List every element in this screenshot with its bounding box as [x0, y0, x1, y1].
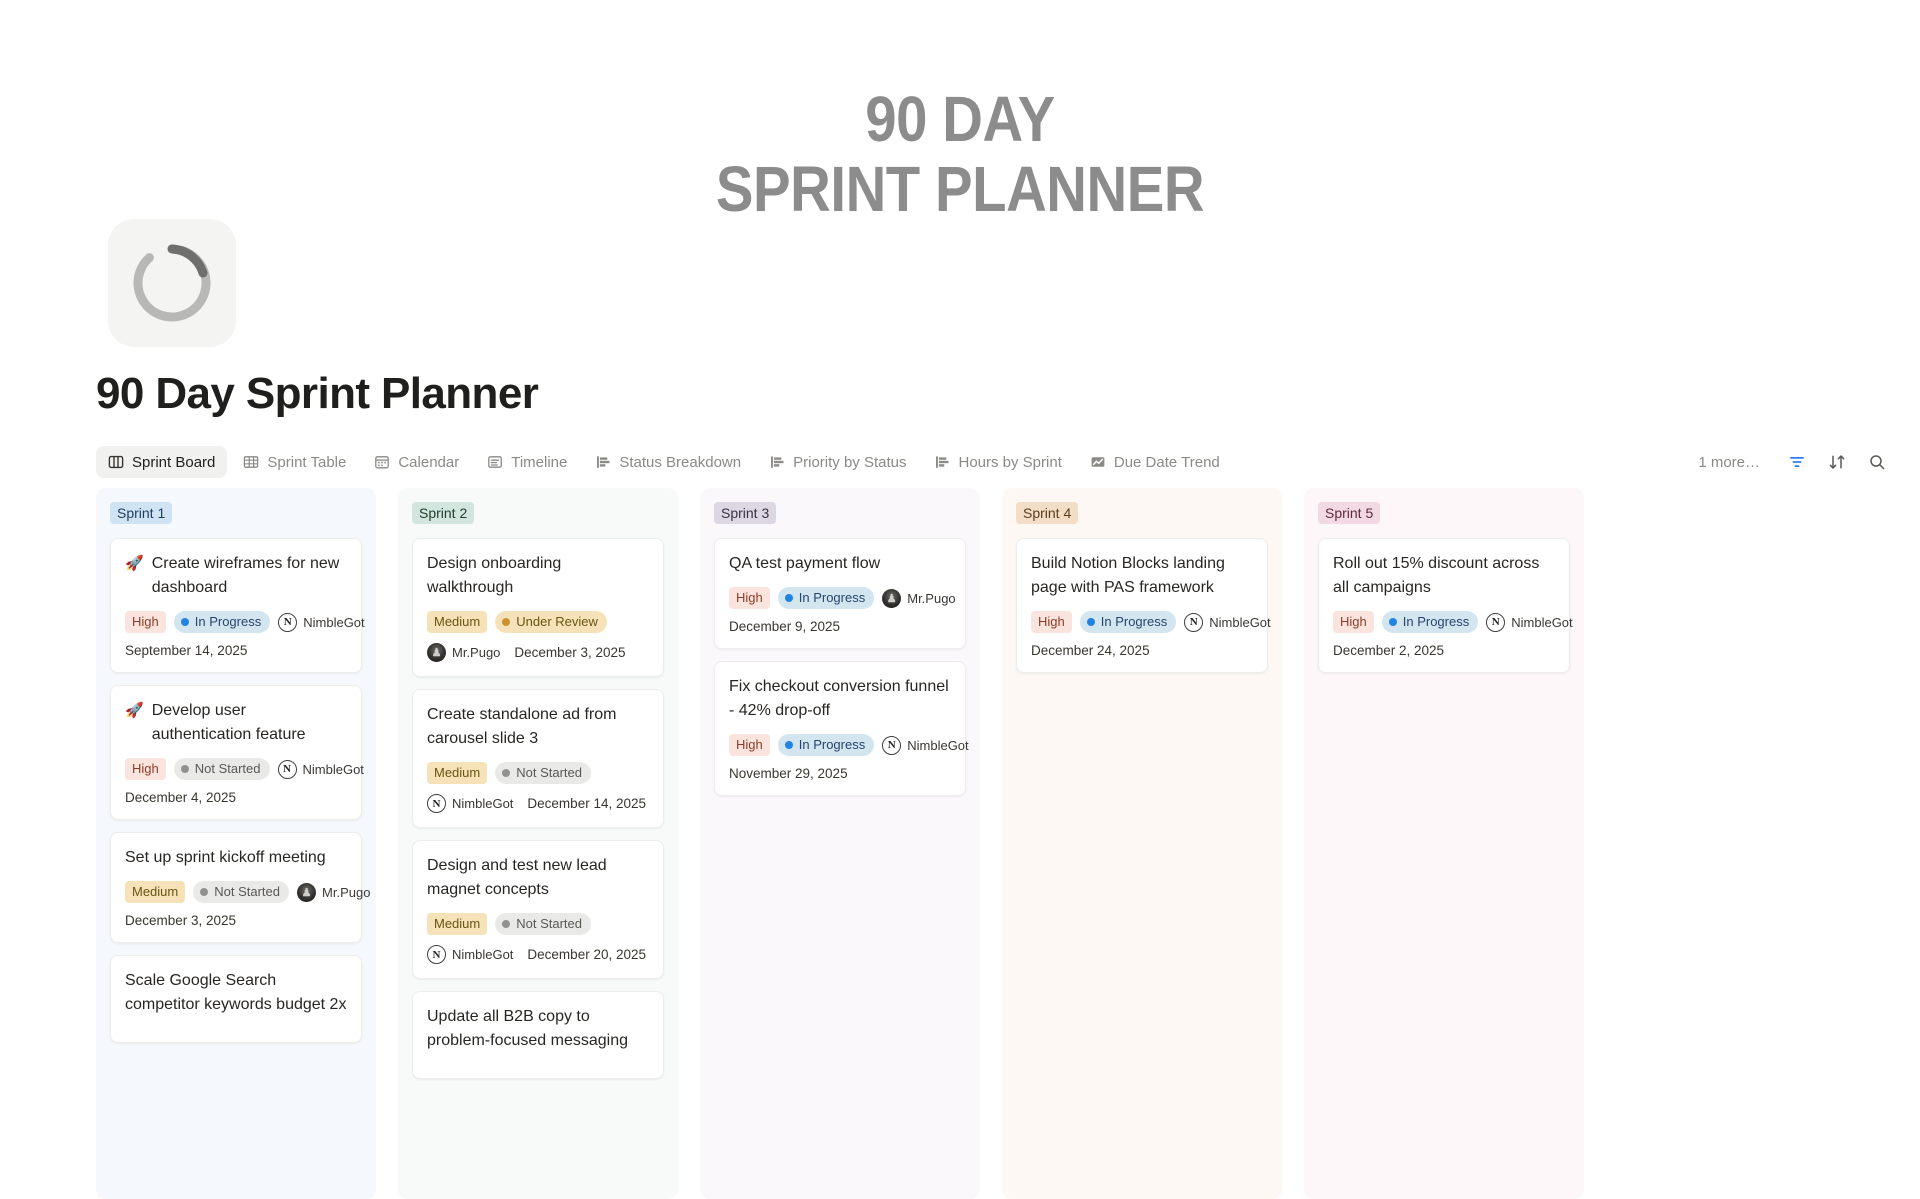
sprint-board: Sprint 1🚀Create wireframes for new dashb… [96, 488, 1920, 1199]
board-toolbar [1772, 453, 1886, 471]
task-card[interactable]: Update all B2B copy to problem-focused m… [412, 991, 664, 1079]
search-icon[interactable] [1868, 453, 1886, 471]
board-column-sprint-3: Sprint 3QA test payment flowHighIn Progr… [700, 488, 980, 1199]
task-card[interactable]: 🚀Develop user authentication featureHigh… [110, 685, 362, 820]
tab-label: Sprint Table [267, 454, 346, 471]
status-dot-icon [502, 920, 510, 928]
avatar: ♟ [427, 643, 446, 662]
tab-priority-by-status[interactable]: Priority by Status [757, 446, 918, 478]
card-title: Develop user authentication feature [152, 699, 347, 747]
assignee[interactable]: NNimbleGot [1184, 613, 1270, 632]
card-title-row: Build Notion Blocks landing page with PA… [1031, 552, 1253, 600]
tab-hours-by-sprint[interactable]: Hours by Sprint [922, 446, 1073, 478]
page-title: 90 Day Sprint Planner [96, 369, 538, 419]
cover-title-line-1: 90 DAY [115, 88, 1805, 151]
due-date[interactable]: September 14, 2025 [125, 643, 247, 658]
assignee[interactable]: NNimbleGot [882, 736, 968, 755]
bar-chart-icon [934, 454, 950, 470]
priority-badge[interactable]: High [1333, 611, 1374, 633]
tab-label: Due Date Trend [1114, 454, 1220, 471]
assignee[interactable]: ♟Mr.Pugo [427, 643, 500, 662]
tab-label: Hours by Sprint [958, 454, 1061, 471]
tab-label: Priority by Status [793, 454, 906, 471]
task-card[interactable]: Scale Google Search competitor keywords … [110, 955, 362, 1043]
card-title: QA test payment flow [729, 552, 880, 576]
task-card[interactable]: Build Notion Blocks landing page with PA… [1016, 538, 1268, 673]
calendar-icon [374, 454, 390, 470]
card-title: Create wireframes for new dashboard [152, 552, 347, 600]
task-card[interactable]: Create standalone ad from carousel slide… [412, 689, 664, 828]
status-dot-icon [785, 594, 793, 602]
card-properties: HighIn Progress♟Mr.Pugo [729, 587, 951, 609]
card-title-row: Roll out 15% discount across all campaig… [1333, 552, 1555, 600]
board-column-sprint-2: Sprint 2Design onboarding walkthroughMed… [398, 488, 678, 1199]
status-dot-icon [502, 618, 510, 626]
tab-label: Status Breakdown [619, 454, 741, 471]
status-dot-icon [502, 769, 510, 777]
tab-sprint-table[interactable]: Sprint Table [231, 446, 358, 478]
tab-label: Timeline [511, 454, 567, 471]
due-date[interactable]: December 3, 2025 [514, 645, 625, 660]
card-title-row: Scale Google Search competitor keywords … [125, 969, 347, 1017]
card-title: Build Notion Blocks landing page with PA… [1031, 552, 1253, 600]
board-column-sprint-4: Sprint 4Build Notion Blocks landing page… [1002, 488, 1282, 1199]
board-column-sprint-5: Sprint 5Roll out 15% discount across all… [1304, 488, 1584, 1199]
page-icon[interactable] [108, 219, 236, 347]
card-title: Create standalone ad from carousel slide… [427, 703, 649, 751]
status-dot-icon [785, 741, 793, 749]
view-tabs: Sprint BoardSprint TableCalendarTimeline… [96, 446, 1686, 478]
card-properties: MediumNot Started♟Mr.Pugo [125, 881, 347, 903]
task-card[interactable]: Design and test new lead magnet concepts… [412, 840, 664, 979]
card-meta: December 2, 2025 [1333, 643, 1555, 658]
card-title-row: Fix checkout conversion funnel - 42% dro… [729, 675, 951, 723]
column-header-badge[interactable]: Sprint 3 [714, 502, 776, 524]
tab-label: Sprint Board [132, 454, 215, 471]
card-properties: HighIn ProgressNNimbleGot [125, 611, 347, 633]
due-date[interactable]: December 20, 2025 [527, 947, 646, 962]
assignee[interactable]: ♟Mr.Pugo [297, 883, 370, 902]
assignee[interactable]: NNimbleGot [278, 760, 364, 779]
card-title-row: Update all B2B copy to problem-focused m… [427, 1005, 649, 1053]
status-badge[interactable]: Not Started [193, 881, 289, 903]
status-badge[interactable]: In Progress [778, 734, 874, 756]
column-header-badge[interactable]: Sprint 4 [1016, 502, 1078, 524]
avatar: N [427, 945, 446, 964]
card-title-row: Design onboarding walkthrough [427, 552, 649, 600]
card-properties: MediumNot Started [427, 762, 649, 784]
avatar: N [1486, 613, 1505, 632]
line-chart-icon [1090, 454, 1106, 470]
due-date[interactable]: December 3, 2025 [125, 913, 236, 928]
assignee[interactable]: NNimbleGot [1486, 613, 1572, 632]
tabs-more-button[interactable]: 1 more… [1686, 454, 1772, 471]
timeline-icon [487, 454, 503, 470]
column-header-badge[interactable]: Sprint 2 [412, 502, 474, 524]
card-meta: December 9, 2025 [729, 619, 951, 634]
card-properties: HighNot StartedNNimbleGot [125, 758, 347, 780]
priority-badge[interactable]: Medium [427, 762, 487, 784]
task-card[interactable]: Fix checkout conversion funnel - 42% dro… [714, 661, 966, 796]
status-badge[interactable]: Not Started [174, 758, 270, 780]
task-card[interactable]: Roll out 15% discount across all campaig… [1318, 538, 1570, 673]
priority-badge[interactable]: High [125, 611, 166, 633]
cover-title-line-2: SPRINT PLANNER [115, 158, 1805, 221]
priority-badge[interactable]: High [1031, 611, 1072, 633]
status-dot-icon [1087, 618, 1095, 626]
card-meta: NNimbleGotDecember 20, 2025 [427, 945, 649, 964]
assignee[interactable]: NNimbleGot [278, 613, 364, 632]
status-badge[interactable]: In Progress [1080, 611, 1176, 633]
status-dot-icon [181, 618, 189, 626]
card-title: Design onboarding walkthrough [427, 552, 649, 600]
card-meta: ♟Mr.PugoDecember 3, 2025 [427, 643, 649, 662]
due-date[interactable]: December 24, 2025 [1031, 643, 1150, 658]
tab-due-date-trend[interactable]: Due Date Trend [1078, 446, 1232, 478]
due-date[interactable]: December 4, 2025 [125, 790, 236, 805]
priority-badge[interactable]: Medium [427, 913, 487, 935]
column-header-badge[interactable]: Sprint 1 [110, 502, 172, 524]
card-meta: September 14, 2025 [125, 643, 347, 658]
bar-chart-icon [595, 454, 611, 470]
card-title: Scale Google Search competitor keywords … [125, 969, 347, 1017]
card-title-row: Design and test new lead magnet concepts [427, 854, 649, 902]
priority-badge[interactable]: High [729, 734, 770, 756]
status-badge[interactable]: Not Started [495, 913, 591, 935]
card-title: Set up sprint kickoff meeting [125, 846, 326, 870]
card-title-row: 🚀Develop user authentication feature [125, 699, 347, 747]
card-meta: December 3, 2025 [125, 913, 347, 928]
card-properties: HighIn ProgressNNimbleGot [1333, 611, 1555, 633]
card-title-row: QA test payment flow [729, 552, 951, 576]
column-header-badge[interactable]: Sprint 5 [1318, 502, 1380, 524]
due-date[interactable]: December 2, 2025 [1333, 643, 1444, 658]
card-title: Fix checkout conversion funnel - 42% dro… [729, 675, 951, 723]
status-dot-icon [181, 765, 189, 773]
card-title: Design and test new lead magnet concepts [427, 854, 649, 902]
assignee[interactable]: NNimbleGot [427, 945, 513, 964]
avatar: N [278, 613, 297, 632]
status-badge[interactable]: Not Started [495, 762, 591, 784]
tab-sprint-board[interactable]: Sprint Board [96, 446, 227, 478]
board-column-sprint-1: Sprint 1🚀Create wireframes for new dashb… [96, 488, 376, 1199]
priority-badge[interactable]: Medium [125, 881, 185, 903]
card-title-row: Set up sprint kickoff meeting [125, 846, 347, 870]
assignee[interactable]: ♟Mr.Pugo [882, 589, 955, 608]
card-meta: December 4, 2025 [125, 790, 347, 805]
card-properties: MediumNot Started [427, 913, 649, 935]
table-icon [243, 454, 259, 470]
avatar: N [427, 794, 446, 813]
status-dot-icon [1389, 618, 1397, 626]
priority-badge[interactable]: Medium [427, 611, 487, 633]
assignee[interactable]: NNimbleGot [427, 794, 513, 813]
card-title: Roll out 15% discount across all campaig… [1333, 552, 1555, 600]
rocket-icon: 🚀 [125, 699, 144, 723]
avatar: ♟ [297, 883, 316, 902]
avatar: ♟ [882, 589, 901, 608]
priority-badge[interactable]: High [125, 758, 166, 780]
sort-icon[interactable] [1828, 453, 1846, 471]
status-badge[interactable]: In Progress [1382, 611, 1478, 633]
board-icon [108, 454, 124, 470]
filter-icon[interactable] [1788, 453, 1806, 471]
card-properties: MediumUnder Review [427, 611, 649, 633]
tab-timeline[interactable]: Timeline [475, 446, 579, 478]
card-title-row: Create standalone ad from carousel slide… [427, 703, 649, 751]
cover-title: 90 DAY SPRINT PLANNER [0, 88, 1920, 220]
card-meta: November 29, 2025 [729, 766, 951, 781]
task-card[interactable]: Design onboarding walkthroughMediumUnder… [412, 538, 664, 677]
card-meta: December 24, 2025 [1031, 643, 1253, 658]
card-meta: NNimbleGotDecember 14, 2025 [427, 794, 649, 813]
priority-badge[interactable]: High [729, 587, 770, 609]
card-title: Update all B2B copy to problem-focused m… [427, 1005, 649, 1053]
progress-ring-icon [124, 235, 220, 331]
bar-chart-icon [769, 454, 785, 470]
due-date[interactable]: December 14, 2025 [527, 796, 646, 811]
status-badge[interactable]: In Progress [174, 611, 270, 633]
status-dot-icon [200, 888, 208, 896]
card-title-row: 🚀Create wireframes for new dashboard [125, 552, 347, 600]
due-date[interactable]: December 9, 2025 [729, 619, 840, 634]
tab-calendar[interactable]: Calendar [362, 446, 471, 478]
avatar: N [278, 760, 297, 779]
avatar: N [1184, 613, 1203, 632]
due-date[interactable]: November 29, 2025 [729, 766, 848, 781]
tab-status-breakdown[interactable]: Status Breakdown [583, 446, 753, 478]
view-tabbar: Sprint BoardSprint TableCalendarTimeline… [96, 440, 1886, 484]
task-card[interactable]: 🚀Create wireframes for new dashboardHigh… [110, 538, 362, 673]
task-card[interactable]: Set up sprint kickoff meetingMediumNot S… [110, 832, 362, 943]
status-badge[interactable]: In Progress [778, 587, 874, 609]
tab-label: Calendar [398, 454, 459, 471]
card-properties: HighIn ProgressNNimbleGot [1031, 611, 1253, 633]
card-properties: HighIn ProgressNNimbleGot [729, 734, 951, 756]
avatar: N [882, 736, 901, 755]
rocket-icon: 🚀 [125, 552, 144, 576]
status-badge[interactable]: Under Review [495, 611, 607, 633]
task-card[interactable]: QA test payment flowHighIn Progress♟Mr.P… [714, 538, 966, 649]
cover-banner: 90 DAY SPRINT PLANNER [0, 0, 1920, 268]
